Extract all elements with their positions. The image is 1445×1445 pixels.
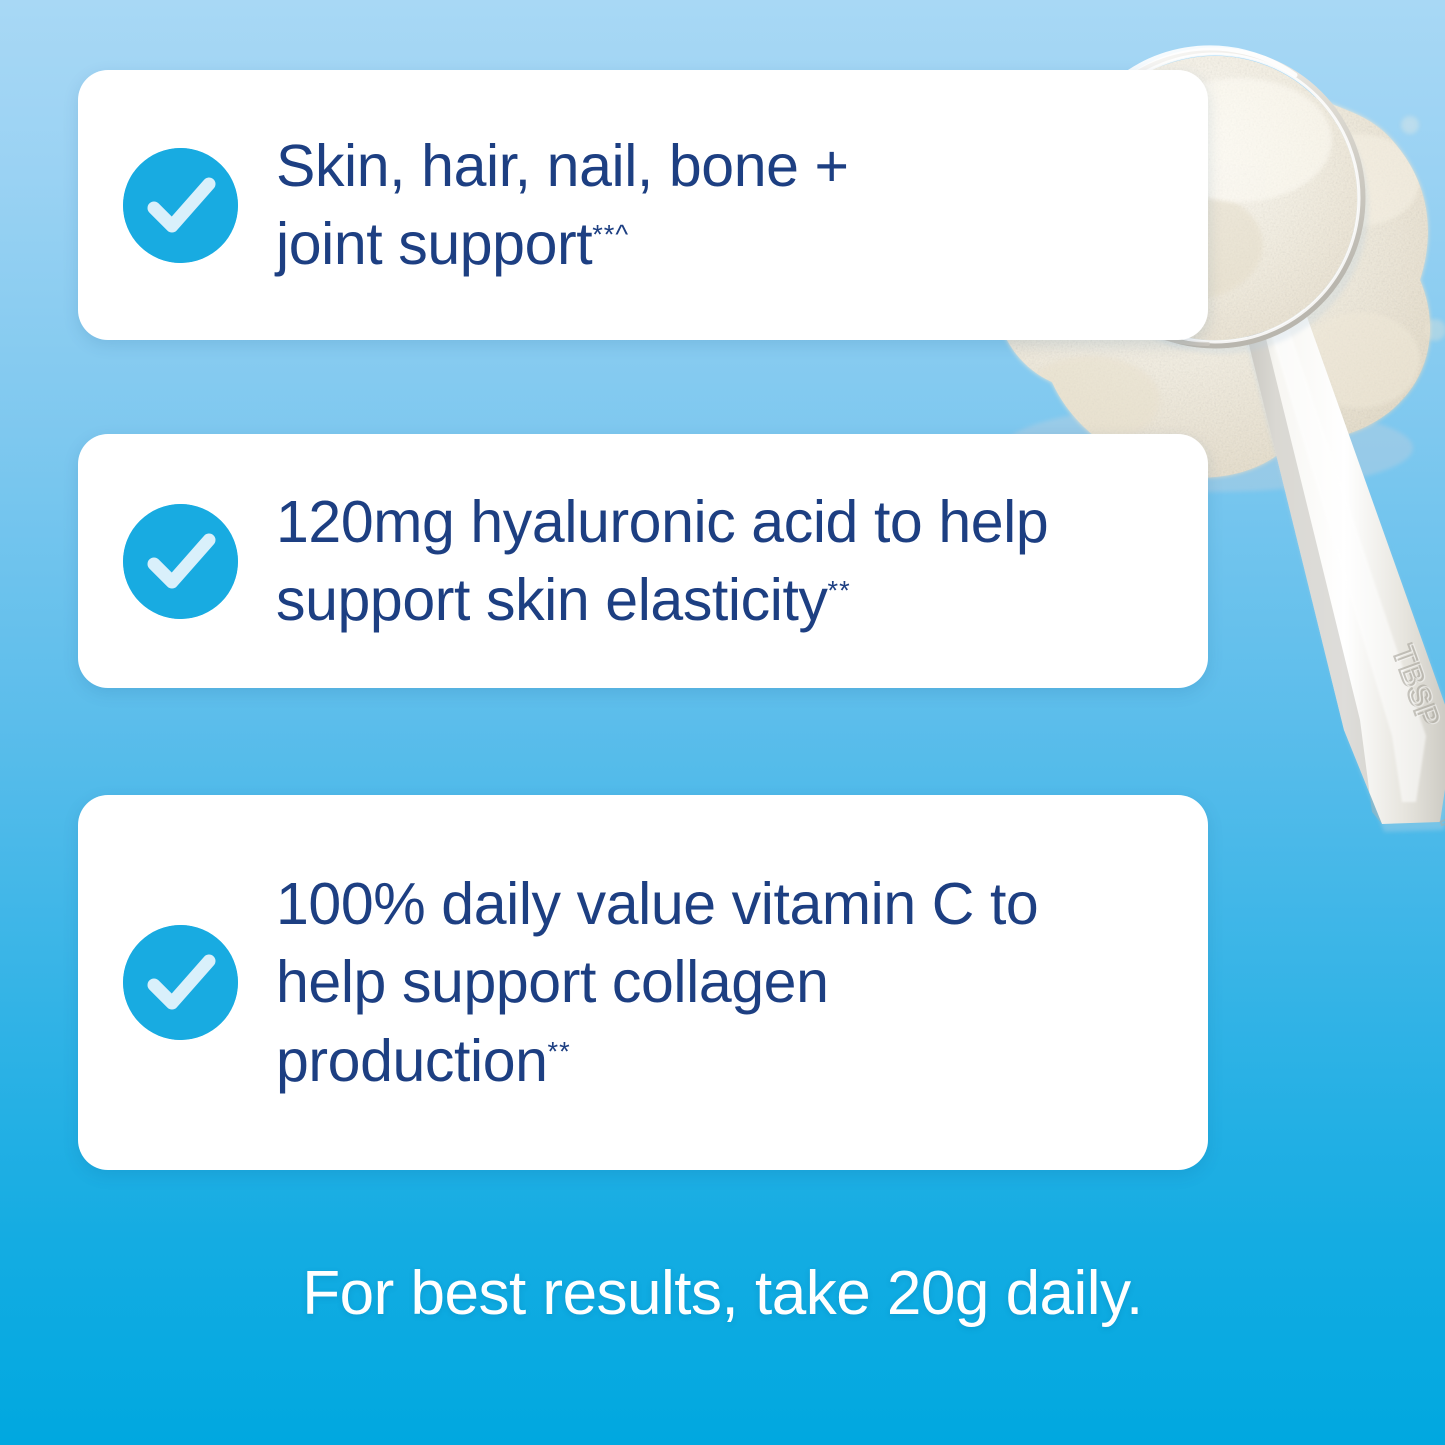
- benefit-label-1: Skin, hair, nail, bone + joint support: [276, 133, 849, 277]
- benefit-text-3: 100% daily value vitamin C to help suppo…: [276, 865, 1116, 1100]
- benefit-card-1: Skin, hair, nail, bone + joint support**…: [78, 70, 1208, 340]
- svg-text:TBSP: TBSP: [1387, 642, 1445, 732]
- benefit-superscript-2: **: [828, 574, 851, 605]
- check-icon-wrap-3: [123, 925, 238, 1040]
- svg-text:I: I: [1434, 812, 1445, 829]
- benefit-label-2: 120mg hyaluronic acid to help support sk…: [276, 489, 1048, 633]
- benefit-superscript-3: **: [548, 1035, 571, 1066]
- measuring-scoop: TBSP TBSP I: [1236, 286, 1445, 832]
- scoop-engraving: TBSP TBSP: [1385, 641, 1445, 733]
- svg-text:TBSP: TBSP: [1385, 641, 1445, 731]
- check-icon-wrap-1: [123, 148, 238, 263]
- benefit-card-3: 100% daily value vitamin C to help suppo…: [78, 795, 1208, 1170]
- check-icon: [123, 925, 238, 1040]
- promo-image: TBSP TBSP I: [0, 0, 1445, 1445]
- benefit-label-3: 100% daily value vitamin C to help suppo…: [276, 871, 1038, 1094]
- check-icon: [123, 148, 238, 263]
- benefit-superscript-1: **^: [592, 218, 629, 249]
- check-icon: [123, 504, 238, 619]
- benefit-text-1: Skin, hair, nail, bone + joint support**…: [276, 127, 926, 284]
- benefit-card-2: 120mg hyaluronic acid to help support sk…: [78, 434, 1208, 688]
- check-icon-wrap-2: [123, 504, 238, 619]
- benefit-text-2: 120mg hyaluronic acid to help support sk…: [276, 483, 1116, 640]
- dosage-note: For best results, take 20g daily.: [0, 1258, 1445, 1329]
